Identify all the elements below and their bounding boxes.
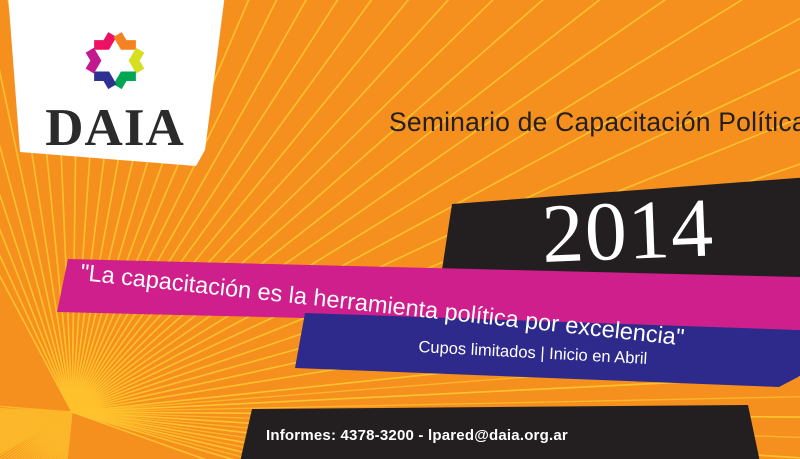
page-title: Seminario de Capacitación Política (389, 107, 800, 138)
year-label: 2014 (540, 179, 716, 283)
logo-panel (8, 0, 225, 166)
promotional-banner: DAIA Seminario de Capacitación Política … (0, 0, 800, 459)
contact-label: Informes: 4378-3200 - lpared@daia.org.ar (266, 427, 568, 444)
